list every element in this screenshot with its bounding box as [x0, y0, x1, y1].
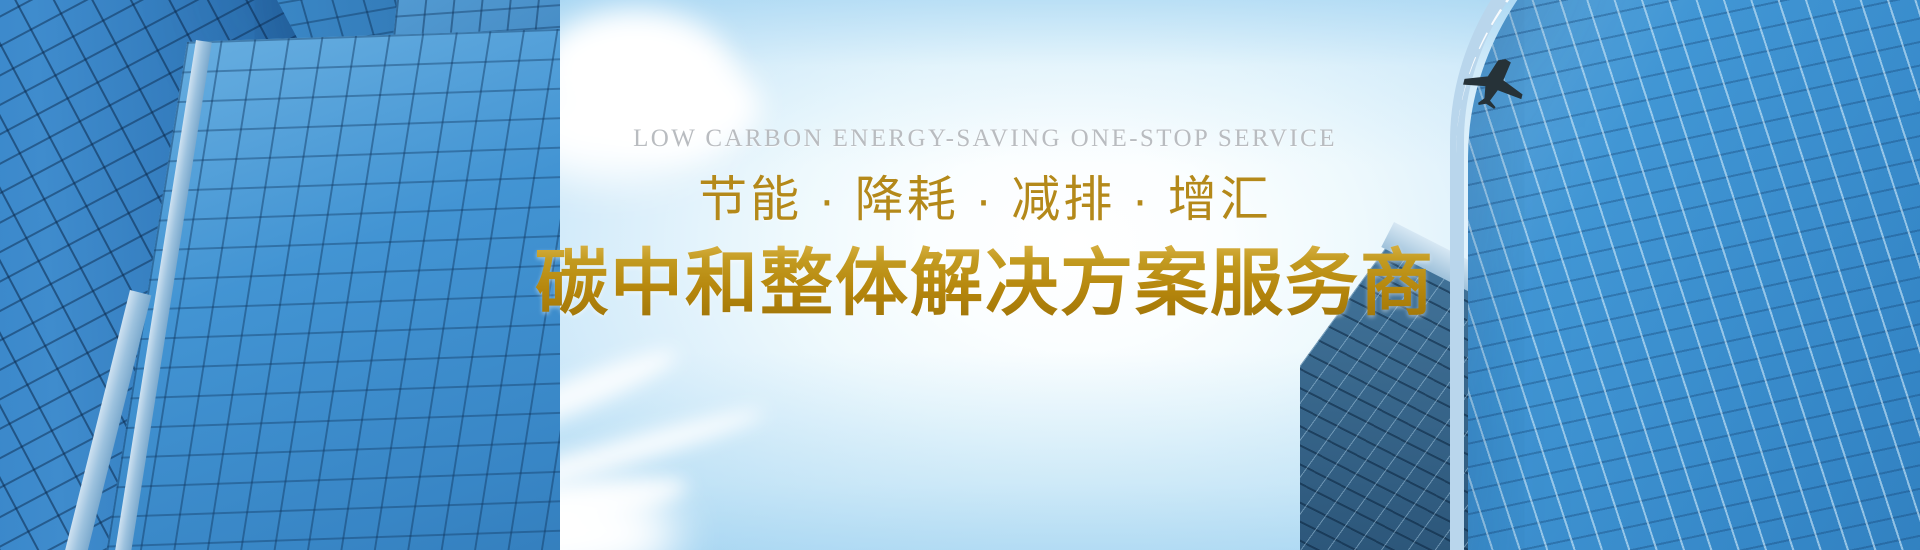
headline: 碳中和整体解决方案服务商: [25, 242, 1920, 327]
subtitle-line: 节能 · 降耗 · 减排 · 增汇: [25, 173, 1920, 228]
hero-banner: LOW CARBON ENERGY-SAVING ONE-STOP SERVIC…: [0, 0, 1920, 550]
english-tagline: LOW CARBON ENERGY-SAVING ONE-STOP SERVIC…: [25, 126, 1920, 151]
banner-text-block: LOW CARBON ENERGY-SAVING ONE-STOP SERVIC…: [25, 126, 1920, 327]
